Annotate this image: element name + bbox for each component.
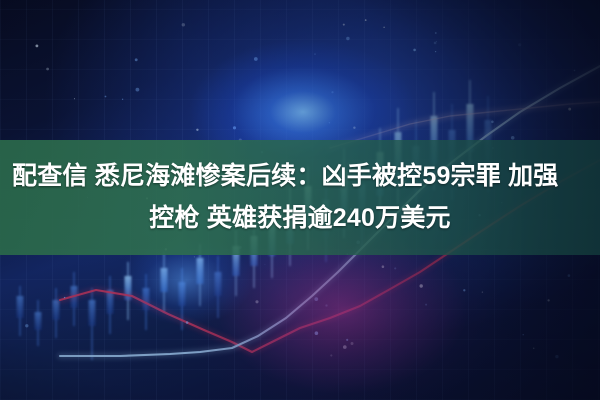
spark-dot <box>420 284 423 287</box>
spark-dot <box>351 342 354 345</box>
spark-dot <box>329 122 330 123</box>
candle-body <box>71 286 78 308</box>
candle-body <box>17 296 24 318</box>
spark-dot <box>35 44 38 47</box>
spark-dot <box>533 348 535 350</box>
spark-dot <box>568 108 571 111</box>
spark-dot <box>353 126 355 128</box>
spark-dot <box>105 96 107 98</box>
spark-dot <box>555 355 558 358</box>
spark-dot <box>343 24 345 26</box>
spark-dot <box>254 57 258 61</box>
spark-dot <box>435 51 436 52</box>
spark-dot <box>491 121 494 124</box>
spark-dot <box>463 289 465 291</box>
spark-dot <box>425 304 427 306</box>
spark-dot <box>436 41 437 42</box>
spark-dot <box>315 331 319 335</box>
candle-body <box>179 282 186 306</box>
spark-dot <box>574 70 576 72</box>
spark-dot <box>434 42 437 45</box>
spark-dot <box>46 68 49 71</box>
spark-dot <box>136 88 140 92</box>
spark-dot <box>64 297 65 298</box>
spark-dot <box>383 27 384 28</box>
spark-dot <box>518 43 521 46</box>
spark-dot <box>346 339 348 341</box>
spark-dot <box>25 324 28 327</box>
headline-band: 配查信 悉尼海滩惨案后续：凶手被控59宗罪 加强 控枪 英雄获捐逾240万美元 <box>0 140 600 255</box>
spark-dot <box>314 297 318 301</box>
spark-dot <box>382 265 385 268</box>
spark-dot <box>394 267 396 269</box>
candle-body <box>161 268 168 292</box>
spark-dot <box>547 299 549 301</box>
spark-dot <box>330 354 332 356</box>
candle-body <box>215 272 222 296</box>
spark-dot <box>523 334 524 335</box>
spark-dot <box>74 98 75 99</box>
candle-body <box>107 290 114 314</box>
spark-dot <box>331 91 333 93</box>
spark-dot <box>135 58 138 61</box>
spark-dot <box>435 32 437 34</box>
spark-dot <box>568 274 571 277</box>
spark-dot <box>186 321 189 324</box>
spark-dot <box>194 256 195 257</box>
spark-dot <box>482 291 483 292</box>
headline-line-2: 控枪 英雄获捐逾240万美元 <box>149 206 450 231</box>
candle-body <box>89 300 96 326</box>
headline-line-1: 配查信 悉尼海滩惨案后续：凶手被控59宗罪 加强 <box>12 164 559 189</box>
spark-dot <box>196 129 198 131</box>
spark-dot <box>413 49 416 52</box>
spark-dot <box>255 300 258 303</box>
spark-dot <box>182 23 185 26</box>
spark-dot <box>264 264 265 265</box>
candle-body <box>35 312 42 330</box>
candle-body <box>125 276 132 300</box>
spark-dot <box>233 126 236 129</box>
candle-body <box>143 288 150 310</box>
spark-dot <box>365 19 367 21</box>
news-banner-image: 配查信 悉尼海滩惨案后续：凶手被控59宗罪 加强 控枪 英雄获捐逾240万美元 <box>0 0 600 400</box>
spark-dot <box>314 53 316 55</box>
spark-dot <box>325 304 327 306</box>
spark-dot <box>346 37 349 40</box>
spark-dot <box>122 99 123 100</box>
candle-body <box>53 300 60 320</box>
candle-body <box>197 258 204 284</box>
spark-dot <box>343 345 347 349</box>
